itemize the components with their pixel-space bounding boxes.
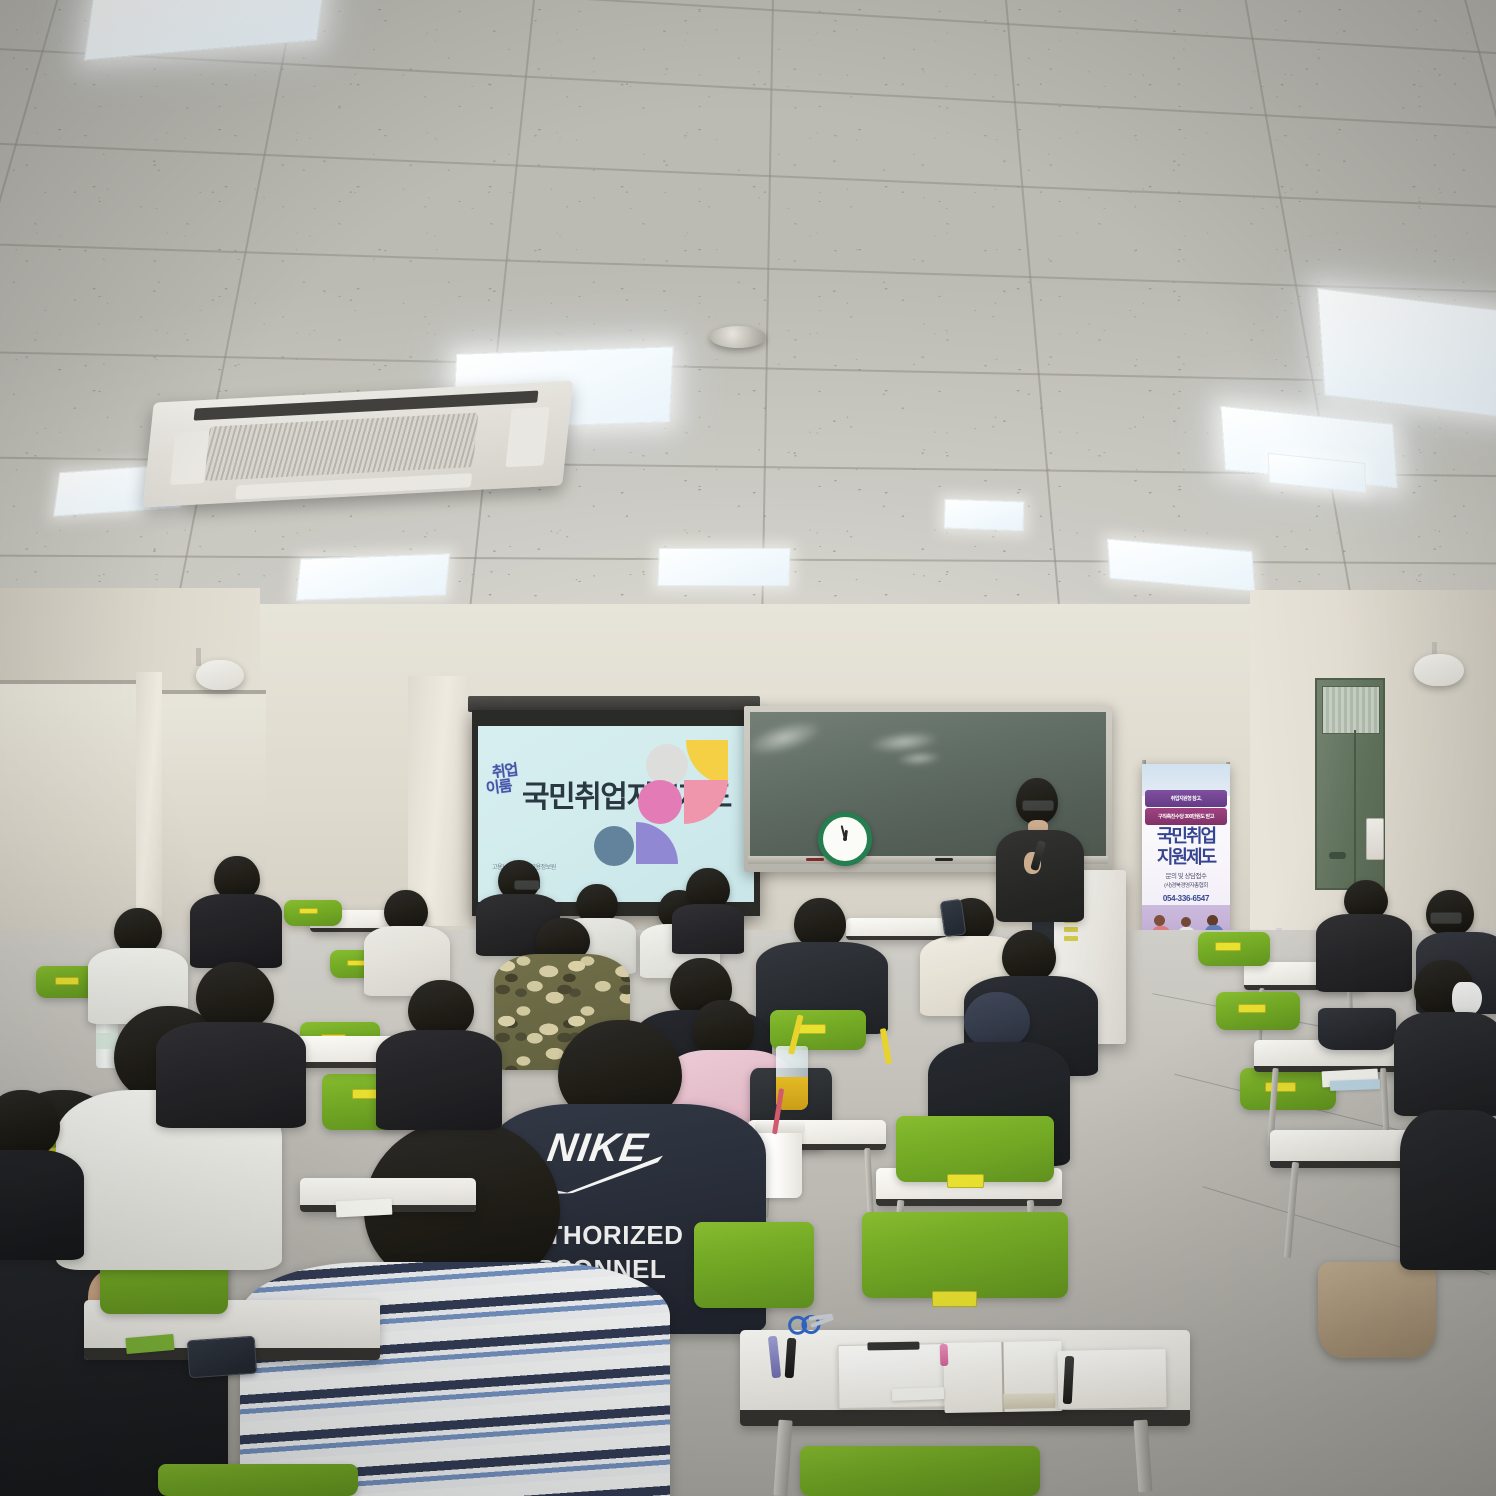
- slide-logo-line2: 이룸: [485, 778, 512, 797]
- chair-label-sticker: [1238, 1004, 1267, 1013]
- attendee-right-1: [1316, 880, 1412, 990]
- chair-label-sticker: [1265, 1082, 1296, 1092]
- attendee-row1-4: [672, 868, 740, 944]
- highlighter-pink[interactable]: [940, 1344, 949, 1366]
- small-note-on-desk: [892, 1387, 944, 1401]
- banner-title-line1: 국민취업: [1142, 827, 1230, 845]
- attendee-torso: [1394, 1012, 1496, 1116]
- attendee-glasses-icon: [1430, 912, 1462, 924]
- attendee-head: [1002, 930, 1056, 982]
- attendee-torso: [156, 1022, 306, 1128]
- striped-polo-shirt: [240, 1262, 670, 1496]
- banner-ribbon-2: 구직촉진수당 300만원도 받고: [1145, 808, 1228, 826]
- attendee-glasses-icon: [514, 880, 540, 890]
- attendee-torso: [672, 904, 744, 954]
- chair-foreground-center[interactable]: [800, 1446, 1040, 1496]
- promo-banner: 취업지원형 참고, 구직촉진수당 300만원도 받고 국민취업 지원제도 문의 …: [1142, 764, 1230, 950]
- clipboard-clip-icon: [867, 1342, 920, 1351]
- attendee-left-front-3: [378, 980, 498, 1120]
- marker-red[interactable]: [806, 858, 824, 862]
- attendee-right-4: [1400, 1110, 1496, 1270]
- attendee-head: [0, 1090, 60, 1158]
- attendee-left-front-2: [160, 962, 300, 1112]
- attendee-head: [196, 962, 274, 1030]
- chair-far-right-1[interactable]: [1198, 932, 1270, 972]
- chair-label-sticker: [932, 1291, 977, 1306]
- wall-pillar-2: [408, 676, 470, 926]
- attendee-torso: [0, 1150, 84, 1260]
- smoke-detector-icon: [710, 326, 766, 348]
- attendee-torso: [376, 1030, 502, 1130]
- banner-phone-1: 054-336-6547: [1142, 894, 1230, 903]
- light-panel-6: [296, 553, 450, 600]
- marker-black[interactable]: [935, 858, 953, 862]
- light-panel-12: [944, 499, 1025, 532]
- attendee-torso: [190, 894, 282, 968]
- clock-center-pin: [843, 837, 847, 841]
- banner-title-line2: 지원제도: [1142, 848, 1230, 866]
- wall-speaker-right: [1414, 654, 1464, 686]
- paper-on-desk-right-2: [1330, 1079, 1380, 1091]
- paper-left-desk: [336, 1199, 393, 1218]
- petal-blue-circle-icon: [594, 826, 634, 866]
- face-mask-icon: [1452, 982, 1482, 1016]
- smartphone-on-desk[interactable]: [187, 1336, 257, 1379]
- attendee-row1-5: [192, 856, 280, 964]
- chair-label-sticker: [947, 1174, 985, 1188]
- light-panel-7: [657, 548, 790, 586]
- chair-label-sticker: [55, 977, 79, 985]
- chair-mid-3[interactable]: [862, 1212, 1068, 1322]
- door-seam: [1354, 730, 1356, 888]
- speaker-mount-left: [196, 648, 201, 666]
- attendee-left-edge: [0, 1090, 80, 1250]
- banner-sub-line2: (사)경북경영자총협회: [1142, 881, 1230, 889]
- wall-clock: [818, 812, 872, 866]
- banner-figure-head-1: [1154, 915, 1165, 926]
- banner-figure-head-3: [1207, 915, 1218, 926]
- chair-label-sticker: [299, 908, 318, 914]
- attendee-torso: [1316, 914, 1412, 992]
- presenter-glasses-icon: [1022, 800, 1054, 811]
- open-notebook[interactable]: [943, 1341, 1062, 1413]
- banner-figure-head-2: [1181, 917, 1191, 927]
- chair-mid-2[interactable]: [896, 1116, 1054, 1202]
- attendee-right-3: [1400, 960, 1496, 1110]
- attendee-torso: [1400, 1110, 1496, 1270]
- light-switch-panel[interactable]: [1366, 818, 1384, 860]
- petal-magenta-circle-icon: [638, 780, 682, 824]
- chair-behind-nike[interactable]: [694, 1222, 814, 1314]
- backpack-on-chair-right: [1318, 1008, 1396, 1050]
- petal-pink-quarter-icon: [684, 780, 728, 824]
- notebook-pages: [1003, 1393, 1055, 1409]
- chair-front-left-1[interactable]: [284, 900, 342, 930]
- chair-foreground-left[interactable]: [158, 1464, 358, 1496]
- chair-far-right-2[interactable]: [1216, 992, 1300, 1038]
- lecture-hall-photo: 취업 이룸 국민취업지원제도 고용노동부 / 한국고용정보원 취업지원형 참고,…: [0, 0, 1496, 1496]
- attendee-head: [964, 992, 1030, 1048]
- petal-purple-quarter-icon: [636, 822, 678, 864]
- door-glass-panel: [1322, 686, 1379, 734]
- tote-bag-right: [1318, 1262, 1436, 1358]
- chair-label-sticker: [1215, 942, 1241, 951]
- door-handle[interactable]: [1329, 852, 1346, 859]
- banner-ribbon-1: 취업지원형 참고,: [1145, 790, 1228, 807]
- attendee-head: [794, 898, 846, 948]
- wall-speaker-left: [196, 660, 244, 690]
- petal-gray-circle-icon: [646, 744, 688, 786]
- banner-sub-line1: 문의 및 상담접수: [1142, 870, 1230, 880]
- attendee-row1-7: [366, 890, 446, 990]
